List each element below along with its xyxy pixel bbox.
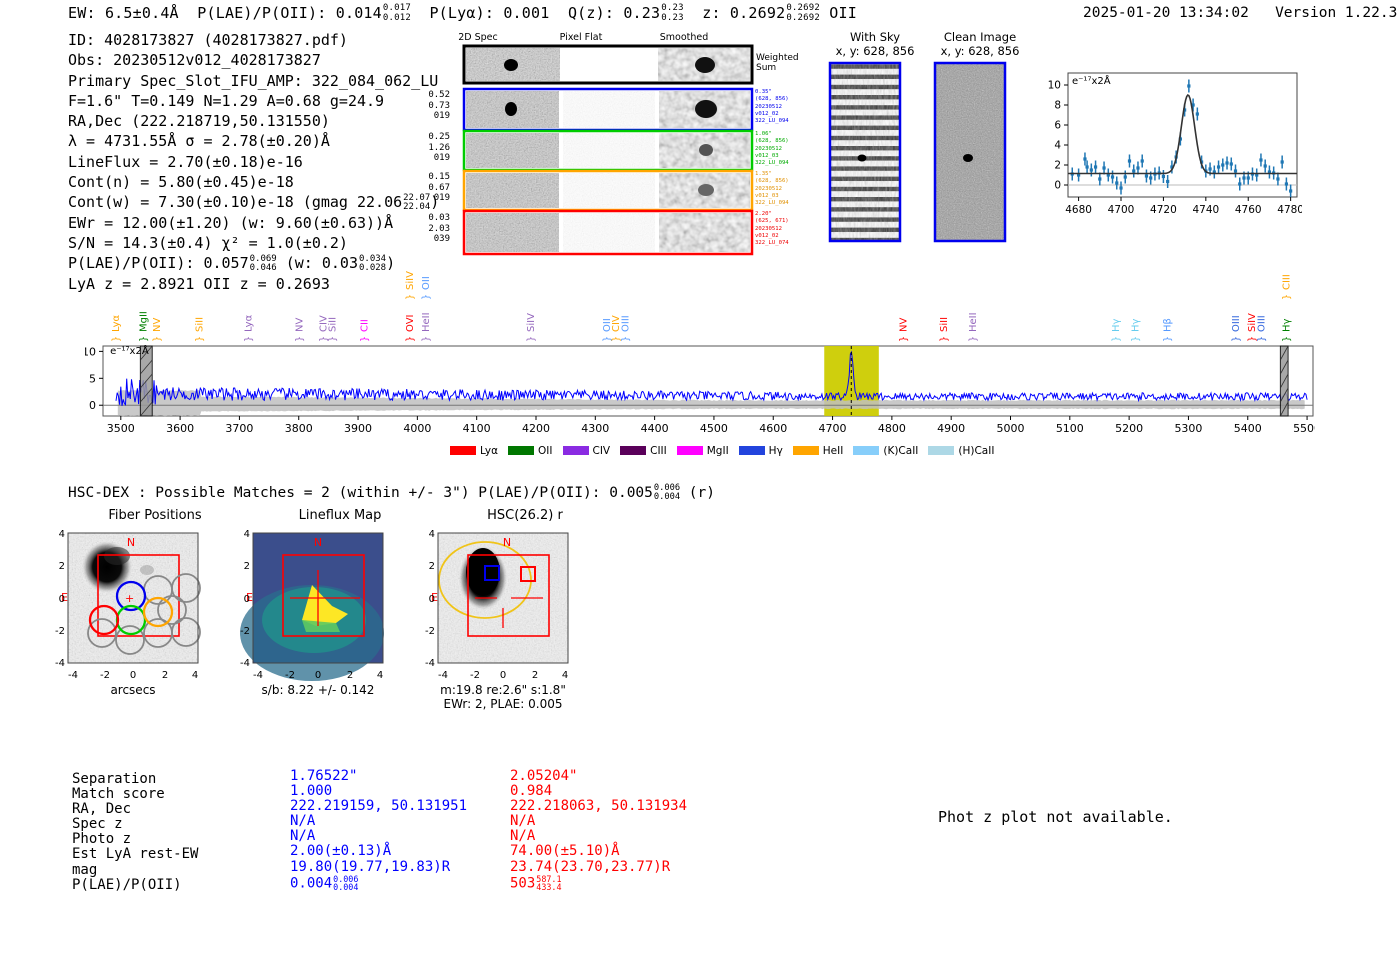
full-xtick: 5100 (1056, 422, 1084, 435)
line-label-Hγ: Hγ (1281, 318, 1292, 332)
yt-2-m2: -2 (425, 626, 435, 637)
line-label-bracket: } (152, 336, 163, 342)
line-label-bracket: } (939, 336, 950, 342)
line-label-bracket: } (899, 336, 910, 342)
yt-1-0: 0 (244, 594, 250, 605)
full-xtick: 4500 (700, 422, 728, 435)
c1-match-score: 1.000 (290, 784, 467, 799)
match-column-2: 2.05204" 0.984 222.218063, 50.131934 N/A… (510, 769, 687, 892)
line-label-HeII: HeII (968, 312, 979, 332)
line-label-OIII: OIII (1256, 315, 1267, 332)
yt-2-4: 4 (429, 529, 435, 540)
row-label-spec-z: Spec z (72, 817, 198, 832)
legend-item-6: HeII (793, 445, 844, 457)
legend-swatch-1 (508, 446, 534, 455)
thumb-2-caption2: EWr: 2, PLAE: 0.005 (444, 697, 563, 711)
xt-1-2: 2 (347, 670, 353, 681)
twod-spec-panel-group: 2D Spec Pixel Flat Smoothed Weighted Sum (418, 30, 818, 255)
full-xtick: 4300 (581, 422, 609, 435)
line-label-Lyα: Lyα (243, 314, 254, 332)
match-table-row-labels: Separation Match score RA, Dec Spec z Ph… (72, 772, 198, 893)
thumb-1-caption: s/b: 8.22 +/- 0.142 (262, 683, 375, 697)
legend-swatch-2 (563, 446, 589, 455)
legend-swatch-6 (793, 446, 819, 455)
row-label-separation: Separation (72, 772, 198, 787)
line-label-CII: CII (360, 319, 371, 332)
full-xtick: 3600 (166, 422, 194, 435)
line-label-bracket: } (195, 336, 206, 342)
full-ytick: 5 (89, 372, 96, 385)
hsc-r-plot: N E 42 0-2 -4 -4-2 02 4 m:19.8 re:2.6" s… (425, 528, 625, 738)
header-timestamp-version: 2025-01-20 13:34:02 Version 1.22.3 (1083, 5, 1397, 21)
info-sn-chi2: S/N = 14.3(±0.4) χ² = 1.0(±0.2) (68, 233, 439, 253)
with-sky-image (820, 61, 930, 246)
match-column-1: 1.76522" 1.000 222.219159, 50.131951 N/A… (290, 769, 467, 892)
info-ewr: EWr = 12.00(±1.20) (w: 9.60(±0.63))Å (68, 213, 439, 233)
full-flux-units: e⁻¹⁷x2Å (110, 344, 149, 357)
header-qz-label: Q(z): (568, 4, 614, 22)
xt-2-2: 2 (532, 670, 538, 681)
row-label-plae: P(LAE)/P(OII) (72, 878, 198, 893)
zoom-ytick: 10 (1048, 80, 1061, 92)
legend-item-7: (K)CaII (853, 445, 918, 457)
header-ew-value: 6.5±0.4Å (105, 4, 179, 22)
xt-1-0: 0 (315, 670, 321, 681)
fiber-4-left-values: 0.032.03039 (418, 213, 450, 245)
header-summary-line: EW: 6.5±0.4Å P(LAE)/P(OII): 0.0140.0170.… (68, 4, 857, 23)
full-xtick: 4800 (878, 422, 906, 435)
info-lineflux: LineFlux = 2.70(±0.18)e-16 (68, 152, 439, 172)
line-label-bracket: } (621, 336, 632, 342)
header-plae-label: P(LAE)/P(OII): (197, 4, 326, 22)
legend-item-8: (H)CaII (928, 445, 994, 457)
line-label-bracket: } (294, 336, 305, 342)
zoom-ytick: 0 (1054, 180, 1061, 192)
yt-1-2: 2 (244, 561, 250, 572)
info-cont-w: Cont(w) = 7.30(±0.10)e-18 (gmag 22.0622.… (68, 192, 439, 212)
xt-0-2: 2 (162, 670, 168, 681)
full-spectrum-svg: 0510350036003700380039004000410042004300… (85, 268, 1315, 448)
c1-plae: 0.0040.0060.004 (290, 875, 467, 892)
line-label-bracket: } (328, 336, 339, 342)
thumb-0-caption: arcsecs (110, 683, 155, 697)
row-label-radec: RA, Dec (72, 802, 198, 817)
fiber-row-2 (464, 131, 752, 170)
full-xtick: 4100 (463, 422, 491, 435)
c2-spec-z: N/A (510, 814, 687, 829)
fiber-3-left-values: 0.150.67019 (418, 172, 450, 204)
line-label-Hγ: Hγ (1111, 318, 1122, 332)
yt-1-4: 4 (244, 529, 250, 540)
header-z-type: OII (829, 4, 857, 22)
col-header-pixelflat: Pixel Flat (560, 32, 603, 43)
legend-swatch-5 (739, 446, 765, 455)
thumb-2-caption: m:19.8 re:2.6" s:1.8" (440, 683, 566, 697)
header-plae-value: 0.014 (336, 4, 382, 22)
legend-swatch-3 (620, 446, 646, 455)
xt-0-m2: -2 (100, 670, 110, 681)
full-xtick: 5500 (1293, 422, 1315, 435)
clean-image-title: Clean Imagex, y: 628, 856 (925, 30, 1035, 58)
line-label-bracket: } (111, 336, 122, 342)
line-label-bracket: } (968, 336, 979, 342)
full-xtick: 3900 (344, 422, 372, 435)
clean-image-canvas (925, 61, 1035, 246)
full-ytick: 0 (89, 399, 96, 412)
line-label-bracket: } (1281, 294, 1292, 300)
legend-swatch-8 (928, 446, 954, 455)
full-xtick: 3700 (225, 422, 253, 435)
full-spectrum-chart: 0510350036003700380039004000410042004300… (85, 268, 1315, 448)
zoom-xtick: 4740 (1192, 204, 1219, 216)
yt-0-4: 4 (59, 529, 65, 540)
line-label-SiIV: SiIV (526, 313, 537, 332)
line-label-OIII: OIII (1231, 315, 1242, 332)
info-cont-n: Cont(n) = 5.80(±0.45)e-18 (68, 172, 439, 192)
full-xtick: 5200 (1115, 422, 1143, 435)
header-z-range: 0.26920.2692 (786, 4, 820, 22)
header-z-value: 0.2692 (730, 4, 785, 22)
line-label-bracket: } (1231, 336, 1242, 342)
row-label-est-lya-ew: Est LyA rest-EW (72, 847, 198, 862)
yt-0-0: 0 (59, 594, 65, 605)
full-xtick: 4000 (403, 422, 431, 435)
line-label-bracket: } (405, 336, 416, 342)
line-label-bracket: } (421, 336, 432, 342)
yt-1-m2: -2 (240, 626, 250, 637)
full-xtick: 5000 (997, 422, 1025, 435)
line-label-MgII: MgII (138, 311, 149, 332)
zoom-xtick: 4720 (1150, 204, 1177, 216)
xt-2-m4: -4 (438, 670, 448, 681)
yt-2-0: 0 (429, 594, 435, 605)
legend-item-3: CIII (620, 445, 667, 457)
fiber-center-cross: + (125, 592, 134, 605)
line-label-bracket: } (1281, 336, 1292, 342)
full-xtick: 5300 (1174, 422, 1202, 435)
c1-mag: 19.80(19.77,19.83)R (290, 860, 467, 875)
zoom-xtick: 4760 (1235, 204, 1262, 216)
hsc-dex-summary: HSC-DEX : Possible Matches = 2 (within +… (68, 484, 715, 502)
row-label-mag: mag (72, 863, 198, 878)
legend-item-4: MgII (677, 445, 729, 457)
line-label-NV: NV (294, 318, 305, 332)
yt-1-m4: -4 (240, 658, 250, 669)
xt-0-4: 4 (192, 670, 198, 681)
info-fwhm-throughput: F=1.6" T=0.149 N=1.29 A=0.68 g=24.9 (68, 91, 439, 111)
line-label-bracket: } (1131, 336, 1142, 342)
c2-separation: 2.05204" (510, 769, 687, 784)
full-xtick: 4200 (522, 422, 550, 435)
weighted-sum-row: Weighted Sum (464, 46, 799, 83)
zoom-ytick: 4 (1054, 140, 1061, 152)
emission-line-zoom-svg: e⁻¹⁷x2Å4680470047204740476047800246810 (1034, 57, 1302, 232)
legend-item-1: OII (508, 445, 552, 457)
info-id: ID: 4028173827 (4028173827.pdf) (68, 30, 439, 50)
xt-2-4: 4 (562, 670, 568, 681)
header-datetime: 2025-01-20 13:34:02 (1083, 5, 1249, 21)
info-radec: RA,Dec (222.218719,50.131550) (68, 111, 439, 131)
row-label-match-score: Match score (72, 787, 198, 802)
line-label-bracket: } (1163, 336, 1174, 342)
c2-mag: 23.74(23.70,23.77)R (510, 860, 687, 875)
line-label-bracket: } (526, 336, 537, 342)
xt-2-0: 0 (500, 670, 506, 681)
line-label-Hβ: Hβ (1163, 318, 1174, 332)
thumb-1-title: Lineflux Map (240, 508, 440, 523)
thumb-2-title: HSC(26.2) r (425, 508, 625, 523)
legend-item-0: Lyα (450, 445, 498, 457)
with-sky-title: With Skyx, y: 628, 856 (820, 30, 930, 58)
line-label-SiII: SiII (939, 317, 950, 332)
line-label-bracket: } (360, 336, 371, 342)
weighted-sum-label-1: Weighted (756, 53, 799, 63)
full-xtick: 4900 (937, 422, 965, 435)
line-label-bracket: } (405, 294, 416, 300)
line-label-HeII: HeII (421, 312, 432, 332)
zoom-flux-units: e⁻¹⁷x2Å (1072, 74, 1111, 87)
header-plya-label: P(Lyα): (429, 4, 494, 22)
legend-item-2: CIV (563, 445, 611, 457)
xt-1-m2: -2 (285, 670, 295, 681)
line-label-SiII: SiII (195, 317, 206, 332)
fiber-row-1 (464, 89, 752, 130)
info-primary-slot: Primary Spec_Slot_IFU_AMP: 322_084_062_L… (68, 71, 439, 91)
info-wavelength-sigma: λ = 4731.55Å σ = 2.78(±0.20)Å (68, 131, 439, 151)
zoom-ytick: 2 (1054, 160, 1061, 172)
col-header-2dspec: 2D Spec (458, 32, 498, 43)
fiber-1-meta: 0.35"(628, 856)20230512v012_02322_LU_094 (755, 89, 815, 125)
line-label-OVI: OVI (405, 315, 416, 333)
legend-item-5: Hγ (739, 445, 783, 457)
xt-0-m4: -4 (68, 670, 78, 681)
header-plae-range: 0.0170.012 (383, 4, 411, 22)
compass-north-2: N (503, 536, 511, 549)
yt-0-m4: -4 (55, 658, 65, 669)
xt-1-4: 4 (377, 670, 383, 681)
yt-2-m4: -4 (425, 658, 435, 669)
line-label-bracket: } (421, 294, 432, 300)
header-version: Version 1.22.3 (1275, 5, 1397, 21)
zoom-xtick: 4680 (1065, 204, 1092, 216)
line-label-CIII: CIII (1281, 274, 1292, 290)
full-ytick: 10 (85, 345, 96, 358)
zoom-xtick: 4700 (1108, 204, 1135, 216)
line-label-SiIV: SiIV (405, 271, 416, 290)
fiber-4-meta: 2.20"(625, 671)20230512v012_02322_LU_074 (755, 211, 815, 247)
line-label-bracket: } (138, 336, 149, 342)
line-label-bracket: } (1256, 336, 1267, 342)
c2-plae: 503587.1433.4 (510, 875, 687, 892)
yt-0-m2: -2 (55, 626, 65, 637)
compass-north-1: N (314, 536, 322, 549)
line-label-SiII: SiII (328, 317, 339, 332)
full-xtick: 4400 (641, 422, 669, 435)
fiber-3-meta: 1.35"(628, 856)20230512v012_03322_LU_094 (755, 171, 815, 207)
col-header-smoothed: Smoothed (660, 32, 709, 43)
zoom-ytick: 6 (1054, 120, 1061, 132)
spectrum-line-legend: LyαOIICIVCIIIMgIIHγHeII(K)CaII(H)CaII (450, 445, 1004, 457)
dex-plae-range: 0.0060.004 (654, 484, 680, 502)
line-label-NV: NV (899, 318, 910, 332)
yt-2-2: 2 (429, 561, 435, 572)
full-xtick: 4600 (759, 422, 787, 435)
source-info-block: ID: 4028173827 (4028173827.pdf) Obs: 202… (68, 30, 439, 294)
yt-0-2: 2 (59, 561, 65, 572)
line-label-OIII: OIII (621, 315, 632, 332)
thumb-0-title: Fiber Positions (55, 508, 255, 523)
header-z-label: z: (702, 4, 720, 22)
emission-line-zoom-chart: e⁻¹⁷x2Å4680470047204740476047800246810 (1034, 57, 1302, 232)
c1-est-lya-ew: 2.00(±0.13)Å (290, 844, 467, 859)
c2-match-score: 0.984 (510, 784, 687, 799)
lineflux-map-plot: N E 42 0-2 -4 -4-2 02 4 s/b: 8.22 +/- 0.… (240, 528, 440, 738)
info-obs: Obs: 20230512v012_4028173827 (68, 50, 439, 70)
legend-swatch-7 (853, 446, 879, 455)
xt-0-0: 0 (130, 670, 136, 681)
fiber-2-left-values: 0.251.26019 (418, 132, 450, 164)
line-label-Lyα: Lyα (111, 314, 122, 332)
header-qz-range: 0.230.23 (661, 4, 683, 22)
fiber-2-meta: 1.06"(628, 856)20230512v012_03322_LU_094 (755, 131, 815, 167)
weighted-sum-label-2: Sum (756, 63, 776, 73)
compass-north-0: N (127, 536, 135, 549)
legend-swatch-0 (450, 446, 476, 455)
match-table: Separation Match score RA, Dec Spec z Ph… (72, 772, 712, 894)
c2-radec: 222.218063, 50.131934 (510, 799, 687, 814)
full-xtick: 5400 (1234, 422, 1262, 435)
header-plya-value: 0.001 (503, 4, 549, 22)
line-label-bracket: } (243, 336, 254, 342)
zoom-ytick: 8 (1054, 100, 1061, 112)
legend-swatch-4 (677, 446, 703, 455)
fiber-row-3 (464, 171, 752, 210)
row-label-photo-z: Photo z (72, 832, 198, 847)
line-label-bracket: } (1111, 336, 1122, 342)
c1-separation: 1.76522" (290, 769, 467, 784)
full-xtick: 4700 (819, 422, 847, 435)
line-label-OII: OII (421, 276, 432, 290)
c1-spec-z: N/A (290, 814, 467, 829)
xt-2-m2: -2 (470, 670, 480, 681)
full-xtick: 3800 (285, 422, 313, 435)
c2-est-lya-ew: 74.00(±5.10)Å (510, 844, 687, 859)
header-qz-value: 0.23 (623, 4, 660, 22)
line-label-Hγ: Hγ (1131, 318, 1142, 332)
header-ew-label: EW: (68, 4, 96, 22)
xt-1-m4: -4 (253, 670, 263, 681)
fiber-1-left-values: 0.520.73019 (418, 90, 450, 122)
fiber-positions-plot: + N E 42 0-2 -4 -4-2 02 4 arcsecs (55, 528, 255, 738)
fiber-row-4 (464, 211, 752, 254)
line-label-NV: NV (152, 318, 163, 332)
zoom-xtick: 4780 (1277, 204, 1302, 216)
full-xtick: 3500 (107, 422, 135, 435)
photz-unavailable-message: Phot z plot not available. (938, 808, 1173, 826)
c1-radec: 222.219159, 50.131951 (290, 799, 467, 814)
